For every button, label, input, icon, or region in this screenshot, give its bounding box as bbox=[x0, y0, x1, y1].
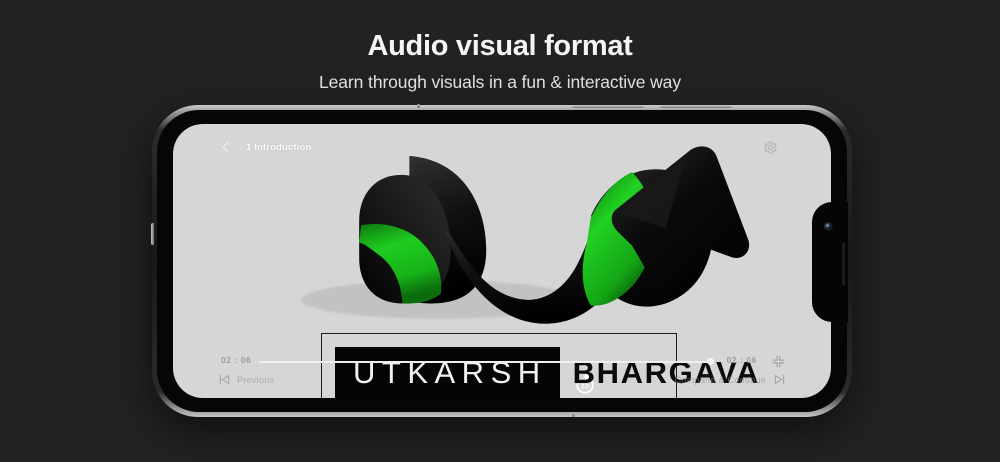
volume-up-button[interactable] bbox=[572, 105, 644, 108]
lesson-title: 1 Introduction bbox=[246, 142, 311, 153]
phone-mockup: 1 Introduction 10 bbox=[152, 105, 852, 417]
page-subtitle: Learn through visuals in a fun & interac… bbox=[0, 72, 1000, 93]
complete-continue-button[interactable]: Complete & Continue bbox=[675, 374, 785, 385]
progress-bar[interactable] bbox=[259, 361, 708, 363]
screen-topbar: 1 Introduction bbox=[173, 124, 831, 170]
page-title: Audio visual format bbox=[0, 30, 1000, 63]
elapsed-time: 02 : 06 bbox=[221, 356, 251, 365]
front-camera-icon bbox=[824, 222, 833, 231]
promo-slide: Audio visual format Learn through visual… bbox=[0, 0, 1000, 462]
volume-down-button[interactable] bbox=[660, 105, 732, 108]
previous-label: Previous bbox=[237, 375, 274, 385]
side-accent bbox=[151, 223, 154, 245]
total-time: 02 : 06 bbox=[727, 356, 757, 365]
earpiece-speaker bbox=[842, 242, 845, 286]
skip-previous-icon bbox=[219, 374, 230, 385]
skip-next-icon bbox=[774, 374, 785, 385]
collapse-fullscreen-icon[interactable] bbox=[772, 355, 785, 368]
chevron-left-icon[interactable] bbox=[219, 140, 233, 154]
gear-icon[interactable] bbox=[763, 140, 778, 155]
progress-handle[interactable] bbox=[707, 358, 714, 365]
player-controls-bar: 02 : 06 02 : 06 bbox=[173, 350, 831, 398]
phone-screen: 1 Introduction 10 bbox=[173, 124, 831, 398]
previous-button[interactable]: Previous bbox=[219, 374, 274, 385]
complete-continue-label: Complete & Continue bbox=[675, 375, 766, 385]
power-button[interactable] bbox=[572, 413, 575, 417]
mute-switch[interactable] bbox=[417, 104, 420, 108]
phone-bezel: 1 Introduction 10 bbox=[157, 110, 847, 412]
